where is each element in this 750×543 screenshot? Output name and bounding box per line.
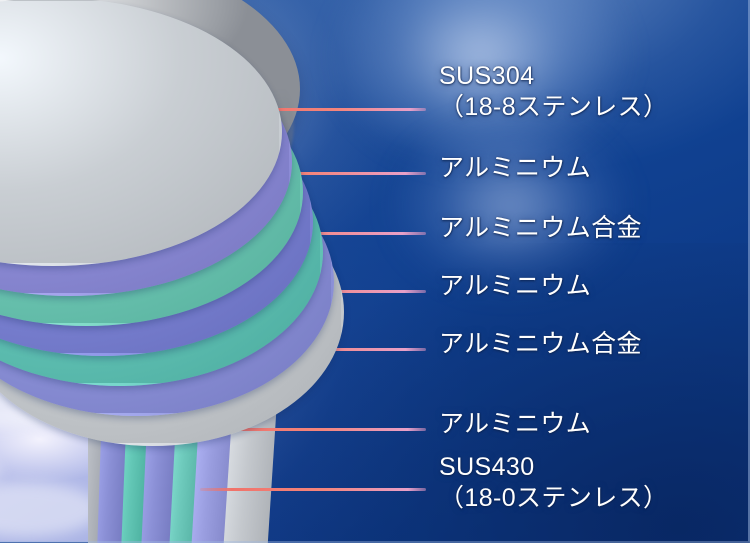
layered-cookware-diagram: SUS304 （18-8ステンレス） アルミニウム アルミニウム合金 アルミニウ… [0, 0, 750, 543]
leader-line-7 [200, 488, 426, 491]
label-layer-6-line1: アルミニウム [439, 410, 591, 438]
label-layer-7-line2: （18-0ステンレス） [439, 483, 668, 514]
label-layer-1-line1: SUS304 [439, 62, 535, 90]
label-layer-3-line1: アルミニウム合金 [439, 214, 642, 242]
label-layer-2-line1: アルミニウム [439, 154, 591, 182]
pot-illustration [0, 0, 480, 543]
label-layer-5-line1: アルミニウム合金 [439, 330, 642, 358]
label-layer-1: SUS304 （18-8ステンレス） [439, 61, 668, 124]
label-layer-3: アルミニウム合金 [439, 213, 642, 244]
label-layer-2: アルミニウム [439, 153, 591, 184]
label-layer-1-line2: （18-8ステンレス） [439, 92, 668, 123]
label-layer-7: SUS430 （18-0ステンレス） [439, 452, 668, 515]
label-layer-5: アルミニウム合金 [439, 329, 642, 360]
label-layer-7-line1: SUS430 [439, 453, 535, 481]
label-layer-6: アルミニウム [439, 409, 591, 440]
label-layer-4: アルミニウム [439, 271, 591, 302]
label-layer-4-line1: アルミニウム [439, 272, 591, 300]
